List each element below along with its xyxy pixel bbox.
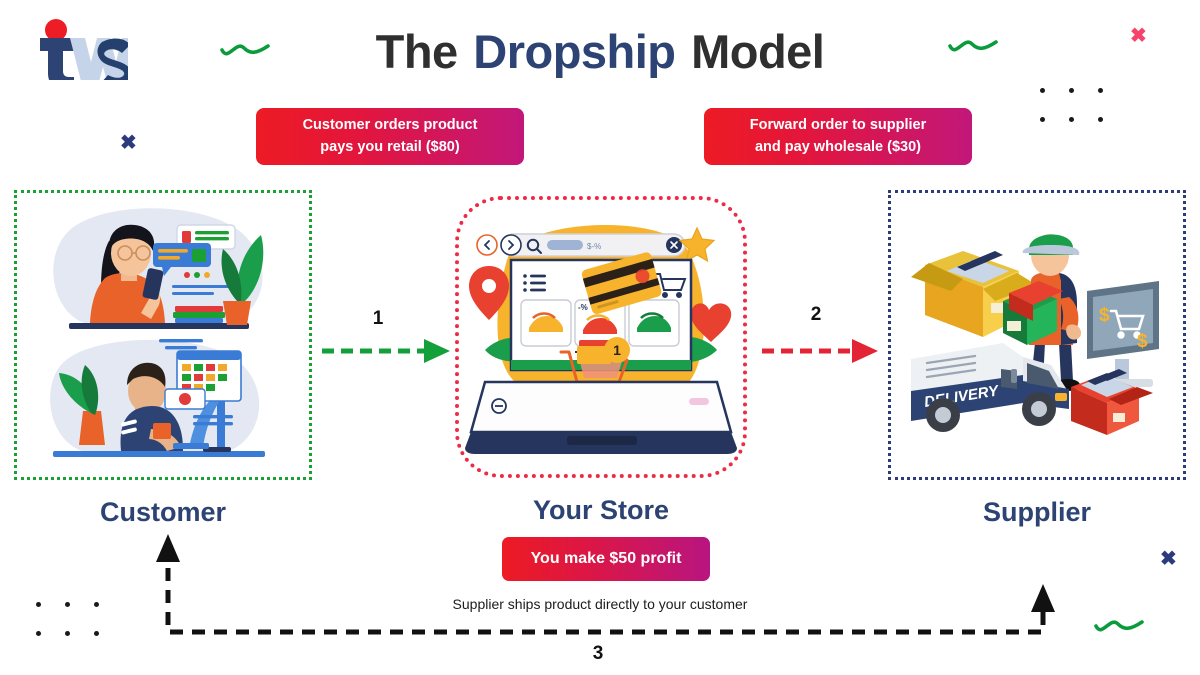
- return-flow-label: Supplier ships product directly to your …: [300, 596, 900, 612]
- flow-arrow-1: [322, 339, 450, 363]
- title-prefix: The: [376, 25, 471, 78]
- browser-forward-icon: [501, 235, 521, 255]
- flow-arrow-2: [762, 339, 878, 363]
- banner-supplier-line1: Forward order to supplier: [750, 115, 926, 136]
- discount-label: -%: [578, 303, 588, 312]
- squiggle-green-bottom: [1092, 612, 1148, 638]
- squiggle-green-right: [946, 32, 1002, 58]
- panel-customer: [14, 190, 312, 480]
- banner-customer-order: Customer orders product pays you retail …: [256, 108, 524, 165]
- step-number-2: 2: [786, 304, 846, 326]
- x-mark-navy-bottomright: ✖: [1160, 549, 1177, 569]
- dot-grid-topright: [1040, 88, 1108, 127]
- banner-supplier-line2: and pay wholesale ($30): [750, 137, 926, 158]
- x-mark-pink-topright: ✖: [1130, 26, 1147, 46]
- caption-customer: Customer: [14, 497, 312, 528]
- profit-badge: You make $50 profit: [502, 537, 710, 581]
- dropship-model-infographic: The Dropship Model Customer orders produ…: [0, 0, 1200, 675]
- banner-forward-order: Forward order to supplier and pay wholes…: [704, 108, 972, 165]
- banner-customer-line1: Customer orders product: [303, 115, 478, 136]
- step-number-3: 3: [568, 643, 628, 665]
- search-placeholder-text: $-%: [587, 242, 601, 251]
- caption-your-store: Your Store: [455, 495, 747, 526]
- customer-shopping-illustration: [17, 193, 309, 477]
- currency-symbol: $: [1099, 305, 1110, 326]
- cart-badge-count: 1: [613, 342, 621, 358]
- squiggle-green-left: [218, 36, 274, 62]
- browser-back-icon: [477, 235, 497, 255]
- panel-supplier: $ $: [888, 190, 1186, 480]
- step-number-1: 1: [348, 308, 408, 330]
- x-mark-navy-left: ✖: [120, 133, 137, 153]
- title-highlight-word: Dropship: [470, 24, 678, 79]
- caption-supplier: Supplier: [888, 497, 1186, 528]
- online-store-laptop-illustration: $-% -%: [459, 200, 743, 474]
- panel-your-store: $-% -%: [455, 196, 747, 478]
- page-title: The Dropship Model: [0, 24, 1200, 79]
- title-suffix: Model: [679, 25, 825, 78]
- red-open-box: [1071, 369, 1153, 435]
- dot-grid-bottomleft: [36, 602, 104, 641]
- supplier-warehouse-delivery-illustration: $ $: [891, 193, 1183, 477]
- delivery-van: DELIVERY: [911, 343, 1069, 432]
- banner-customer-line2: pays you retail ($80): [303, 137, 478, 158]
- currency-symbol: $: [1137, 331, 1148, 352]
